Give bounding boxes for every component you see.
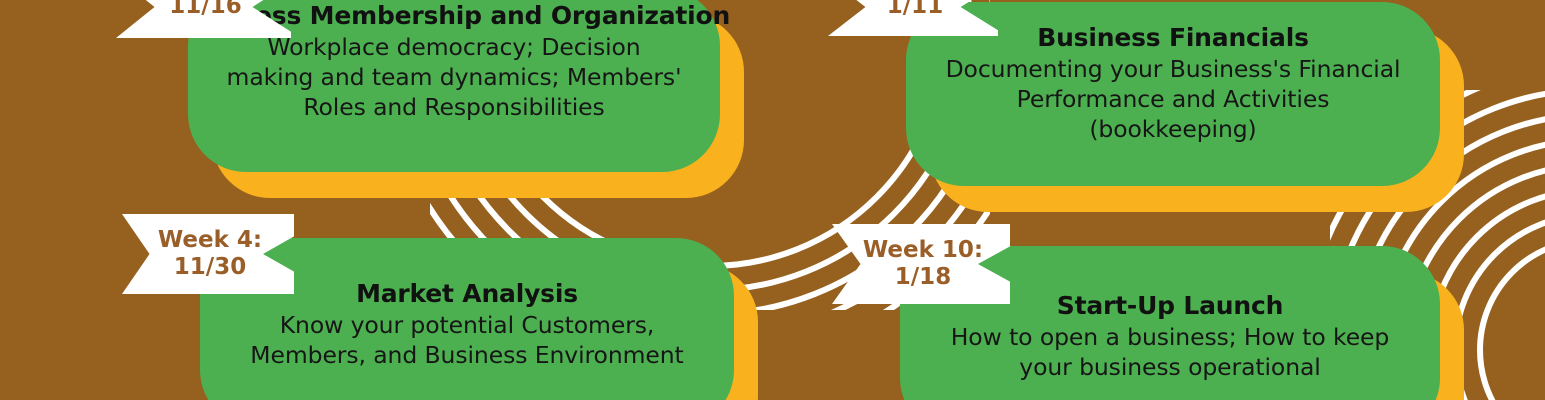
ribbon-date: 11/30: [174, 254, 246, 281]
course-card-market-analysis[interactable]: Market Analysis Know your potential Cust…: [200, 238, 734, 400]
timeline-banner: Business Membership and Organization Wor…: [0, 0, 1545, 400]
ribbon-week-label: Week 4:: [158, 227, 262, 254]
ribbon-date: 1/11: [887, 0, 943, 21]
card-title: Start-Up Launch: [1057, 292, 1283, 320]
card-description: Know your potential Customers, Members, …: [232, 310, 702, 370]
ribbon-date: 1/18: [895, 264, 951, 291]
card-description: How to open a business; How to keep your…: [945, 322, 1395, 382]
card-description: Documenting your Business's Financial Pe…: [932, 54, 1414, 144]
card-description: Workplace democracy; Decision making and…: [226, 32, 682, 122]
card-body: Market Analysis Know your potential Cust…: [200, 238, 734, 400]
card-title: Business Financials: [1037, 24, 1309, 52]
card-title: Market Analysis: [356, 280, 578, 308]
ribbon-date: 11/16: [169, 0, 241, 21]
ribbon-week-label: Week 10:: [863, 237, 983, 264]
